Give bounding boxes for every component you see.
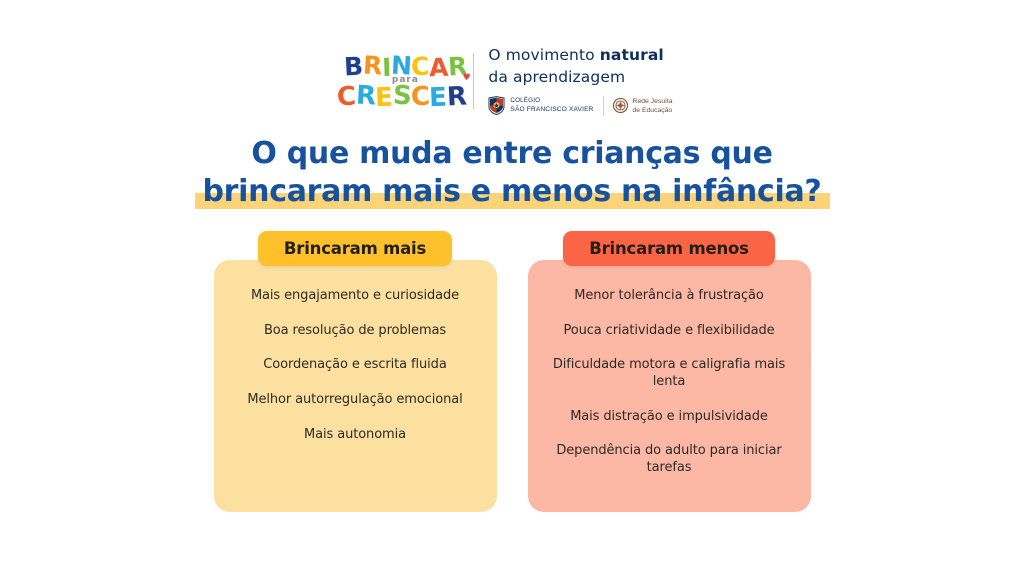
list-item: Menor tolerância à frustração bbox=[574, 288, 764, 305]
card-brincaram-mais: Brincaram mais Mais engajamento e curios… bbox=[214, 231, 497, 512]
logo-divider bbox=[473, 53, 474, 109]
card-body-brincaram-mais: Mais engajamento e curiosidade Boa resol… bbox=[214, 260, 497, 512]
logo-letter: B bbox=[344, 53, 364, 79]
logo-word-brincar: BRINCAR bbox=[344, 54, 466, 79]
logo-letter: A bbox=[428, 55, 448, 81]
brincar-para-crescer-logo: BRINCAR para CRESCER♥ bbox=[351, 52, 459, 110]
list-item: Dependência do adulto para iniciar taref… bbox=[544, 443, 795, 476]
logo-letter: S bbox=[392, 82, 412, 109]
logo-letter: E bbox=[429, 85, 447, 112]
tagline-block: O movimento natural da aprendizagem bbox=[488, 46, 672, 116]
school-name-line-2: SÃO FRANCISCO XAVIER bbox=[510, 106, 593, 113]
logo-letter: C bbox=[410, 83, 430, 110]
network-logo-text: Rede Jesuíta de Educação bbox=[633, 97, 673, 115]
tagline-bold-text: natural bbox=[600, 46, 664, 64]
seal-icon bbox=[613, 98, 628, 113]
logo-letter: C bbox=[410, 53, 429, 79]
list-item: Dificuldade motora e caligrafia mais len… bbox=[544, 357, 795, 390]
list-item: Pouca criatividade e flexibilidade bbox=[563, 323, 774, 340]
logo-letter: E bbox=[375, 85, 393, 112]
comparison-cards: Brincaram mais Mais engajamento e curios… bbox=[0, 231, 1024, 512]
partner-logos: COLÉGIO SÃO FRANCISCO XAVIER bbox=[488, 96, 672, 116]
tagline-line-2: da aprendizagem bbox=[488, 68, 672, 87]
shield-icon bbox=[488, 96, 505, 115]
brand-header: BRINCAR para CRESCER♥ O movimento natura… bbox=[0, 46, 1024, 116]
logo-letter: R bbox=[362, 52, 382, 78]
card-heading-brincaram-menos: Brincaram menos bbox=[563, 231, 775, 266]
list-item: Coordenação e escrita fluida bbox=[263, 357, 446, 374]
list-item: Mais distração e impulsividade bbox=[570, 409, 768, 426]
colegio-sao-francisco-xavier-logo: COLÉGIO SÃO FRANCISCO XAVIER bbox=[488, 96, 593, 115]
school-name-line-1: COLÉGIO bbox=[510, 97, 540, 104]
network-name-line-2: de Educação bbox=[633, 107, 673, 114]
list-item: Boa resolução de problemas bbox=[264, 323, 446, 340]
tagline-plain-text: O movimento bbox=[488, 46, 599, 64]
card-body-brincaram-menos: Menor tolerância à frustração Pouca cria… bbox=[528, 260, 811, 512]
logo-word-crescer: CRESCER♥ bbox=[337, 84, 474, 110]
partner-logos-divider bbox=[603, 96, 604, 116]
card-heading-brincaram-mais: Brincaram mais bbox=[258, 231, 452, 266]
heart-icon: ♥ bbox=[462, 74, 471, 100]
network-name-line-1: Rede Jesuíta bbox=[633, 98, 673, 105]
school-logo-text: COLÉGIO SÃO FRANCISCO XAVIER bbox=[510, 97, 593, 114]
rede-jesuita-de-educacao-logo: Rede Jesuíta de Educação bbox=[613, 97, 673, 115]
logo-letter: N bbox=[390, 52, 412, 78]
list-item: Mais engajamento e curiosidade bbox=[251, 288, 459, 305]
card-brincaram-menos: Brincaram menos Menor tolerância à frust… bbox=[528, 231, 811, 512]
page-title-line-2: brincaram mais e menos na infância? bbox=[203, 174, 822, 210]
list-item: Melhor autorregulação emocional bbox=[247, 392, 462, 409]
list-item: Mais autonomia bbox=[304, 427, 406, 444]
page-title-line-2-text: brincaram mais e menos na infância? bbox=[203, 174, 822, 209]
logo-letter: R bbox=[355, 82, 376, 109]
logo-letter: C bbox=[336, 83, 356, 110]
page-title: O que muda entre crianças que brincaram … bbox=[0, 136, 1024, 210]
tagline-line-1: O movimento natural bbox=[488, 46, 672, 65]
page-title-line-1: O que muda entre crianças que bbox=[0, 136, 1024, 172]
